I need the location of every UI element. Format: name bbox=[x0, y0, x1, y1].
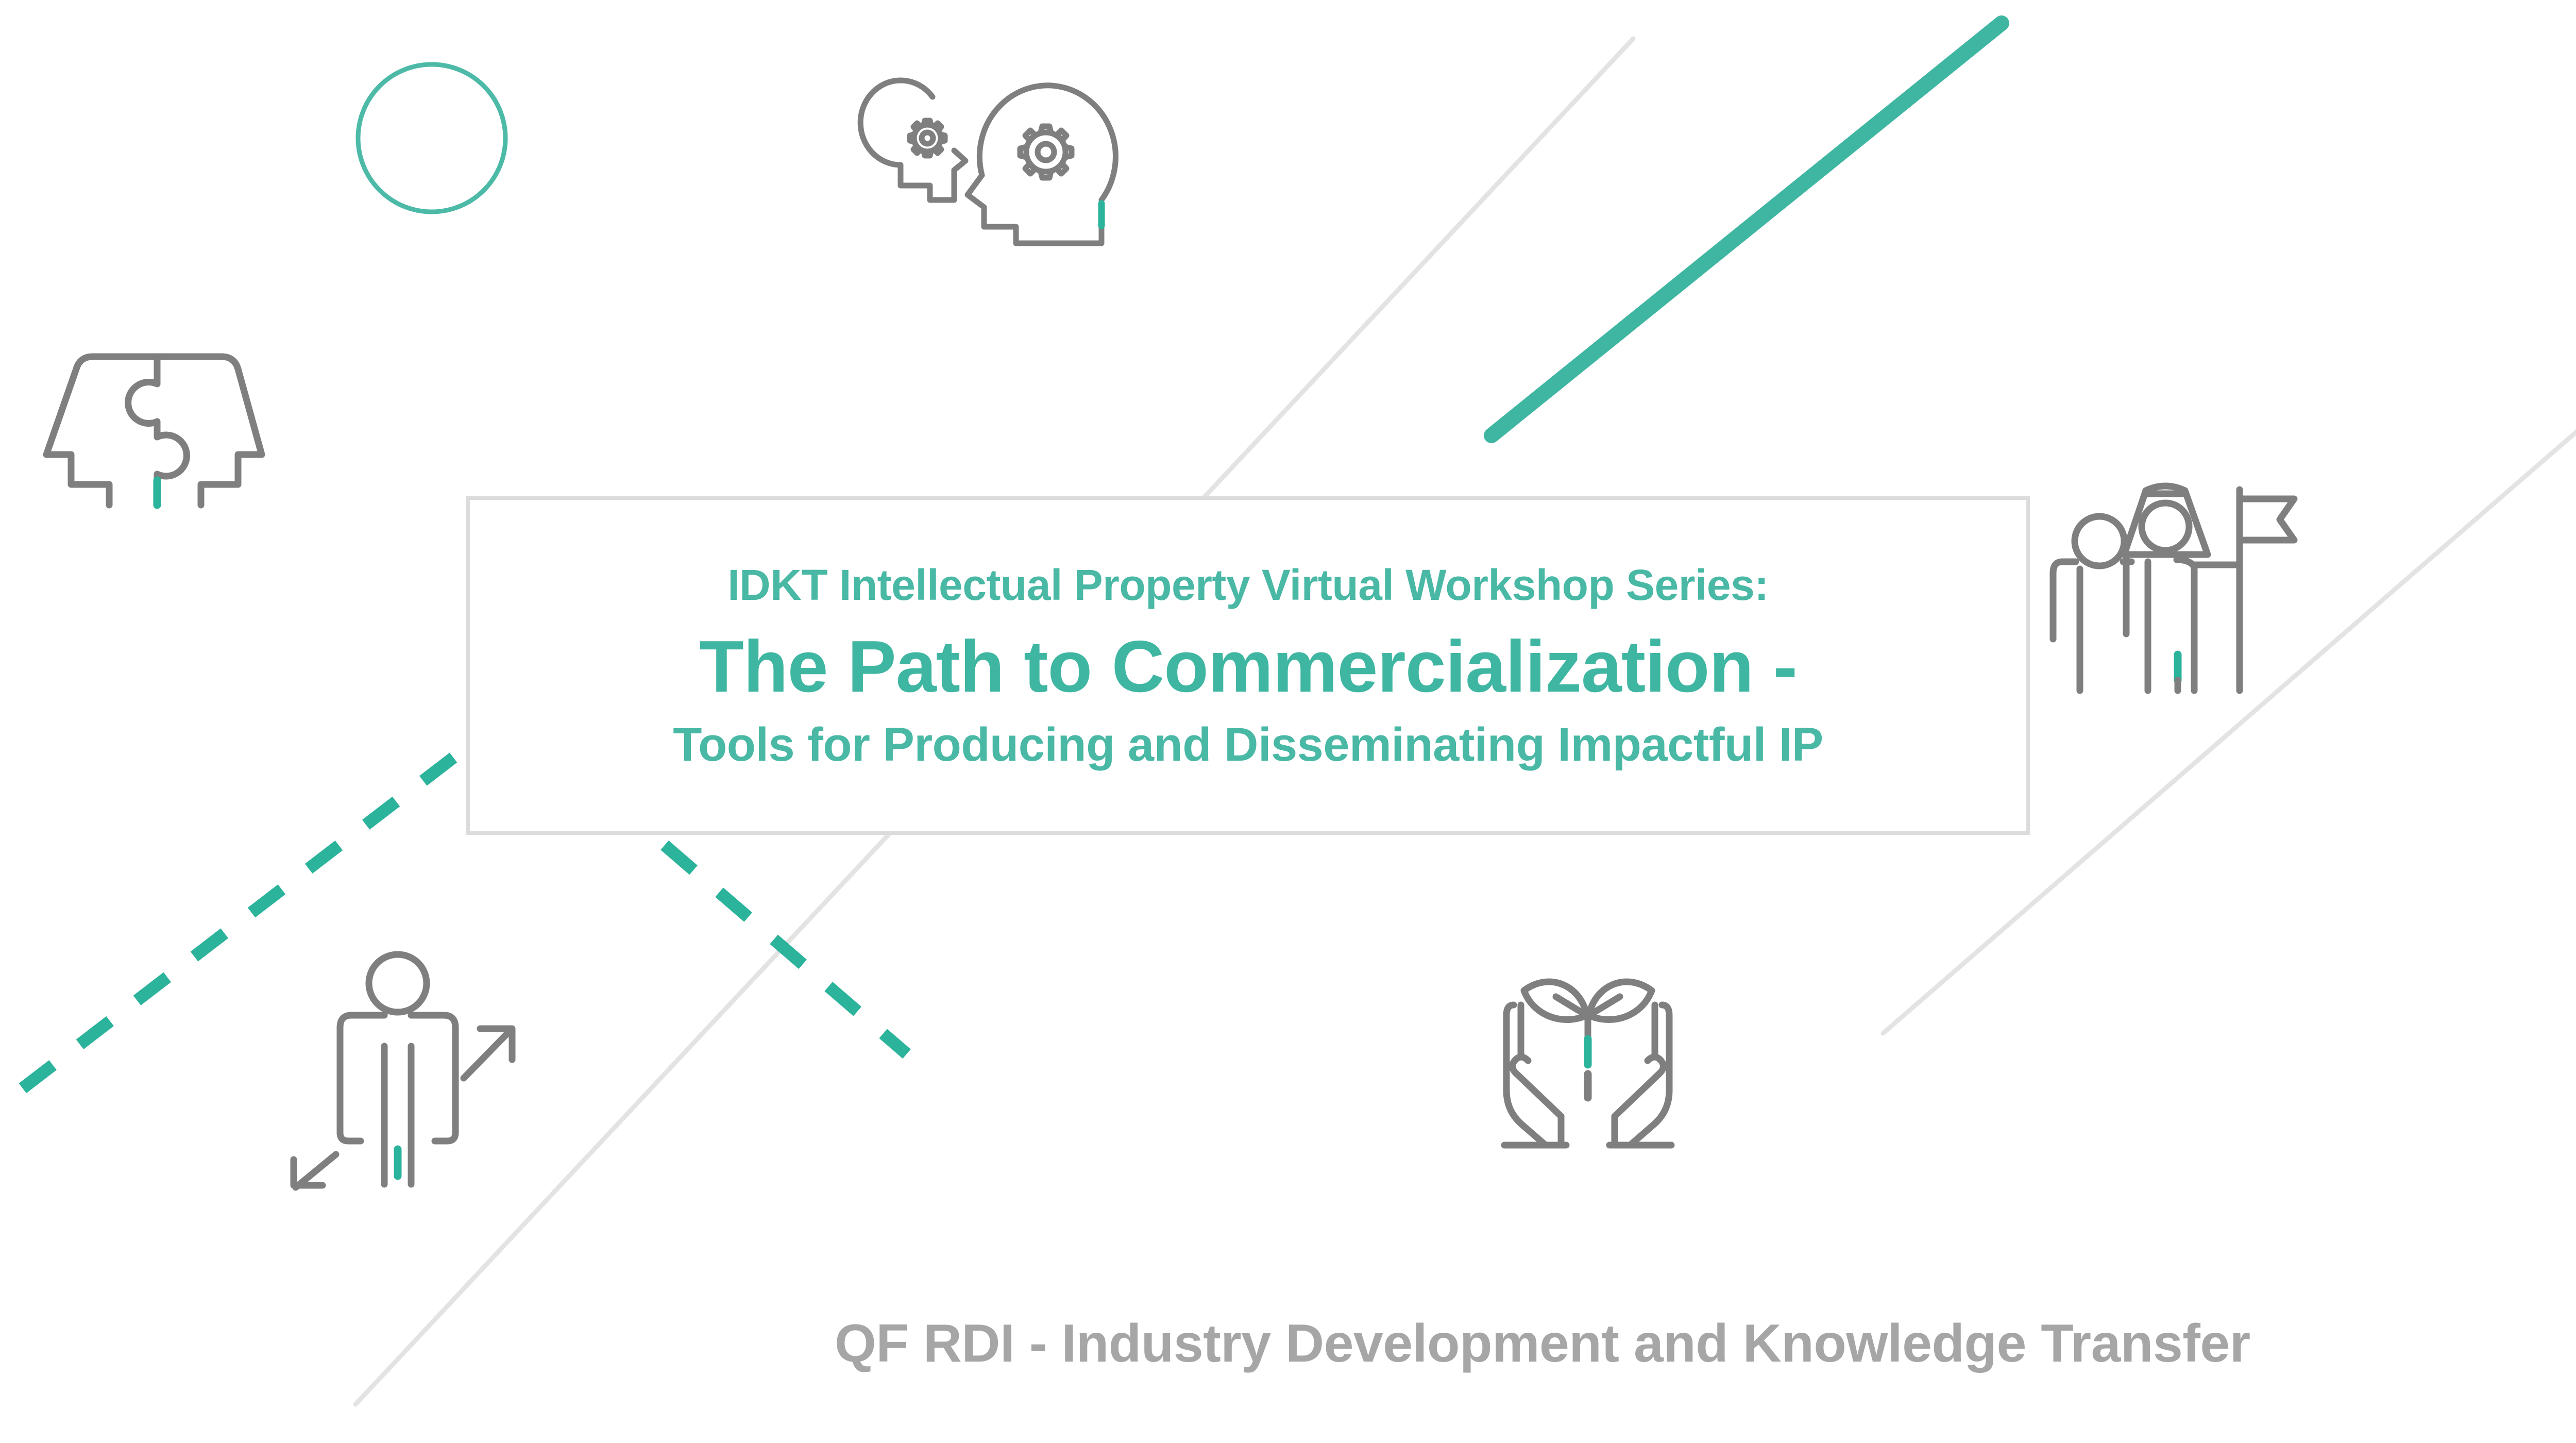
teal-dashed-chevron-right bbox=[665, 845, 907, 1054]
workshop-series-eyebrow: IDKT Intellectual Property Virtual Works… bbox=[727, 563, 1769, 607]
title-card: IDKT Intellectual Property Virtual Works… bbox=[466, 496, 2030, 835]
team-flag-icon bbox=[2038, 459, 2295, 691]
footer-department-label: QF RDI - Industry Development and Knowle… bbox=[835, 1313, 2250, 1374]
teal-diagonal-stroke bbox=[1492, 23, 2002, 435]
two-heads-gears-icon bbox=[855, 72, 1123, 258]
hands-plant-icon bbox=[1484, 943, 1690, 1149]
person-arrows-icon bbox=[289, 943, 515, 1190]
page-subtitle: Tools for Producing and Disseminating Im… bbox=[673, 721, 1823, 768]
presentation-slide: IDKT Intellectual Property Virtual Works… bbox=[0, 0, 2576, 1443]
teal-circle-outline bbox=[358, 64, 505, 212]
page-title: The Path to Commercialization - bbox=[699, 630, 1797, 703]
puzzle-head-icon bbox=[31, 335, 268, 505]
